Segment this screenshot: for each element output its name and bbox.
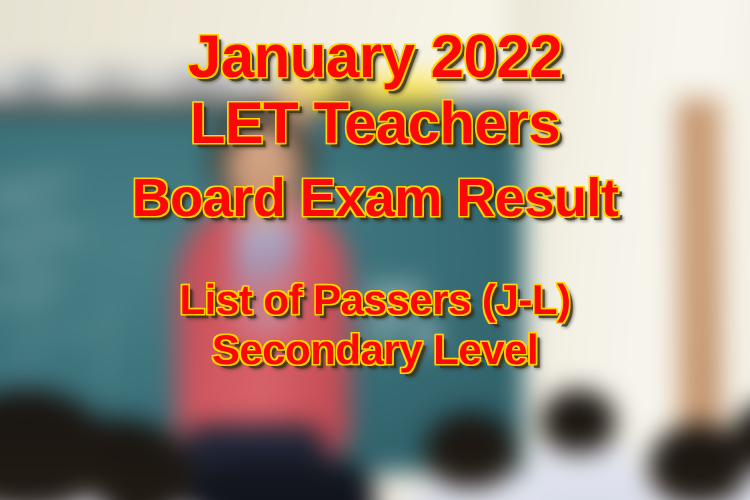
headline-exam-month-year: January 2022: [188, 26, 562, 88]
exam-result-poster: January 2022 LET Teachers Board Exam Res…: [0, 0, 750, 500]
headline-exam-name: LET Teachers: [190, 94, 560, 154]
headline-passers-range: List of Passers (J-L): [180, 278, 571, 322]
poster-text-layer: January 2022 LET Teachers Board Exam Res…: [0, 0, 750, 500]
headline-exam-level: Secondary Level: [212, 328, 538, 372]
headline-result-type: Board Exam Result: [132, 170, 619, 226]
